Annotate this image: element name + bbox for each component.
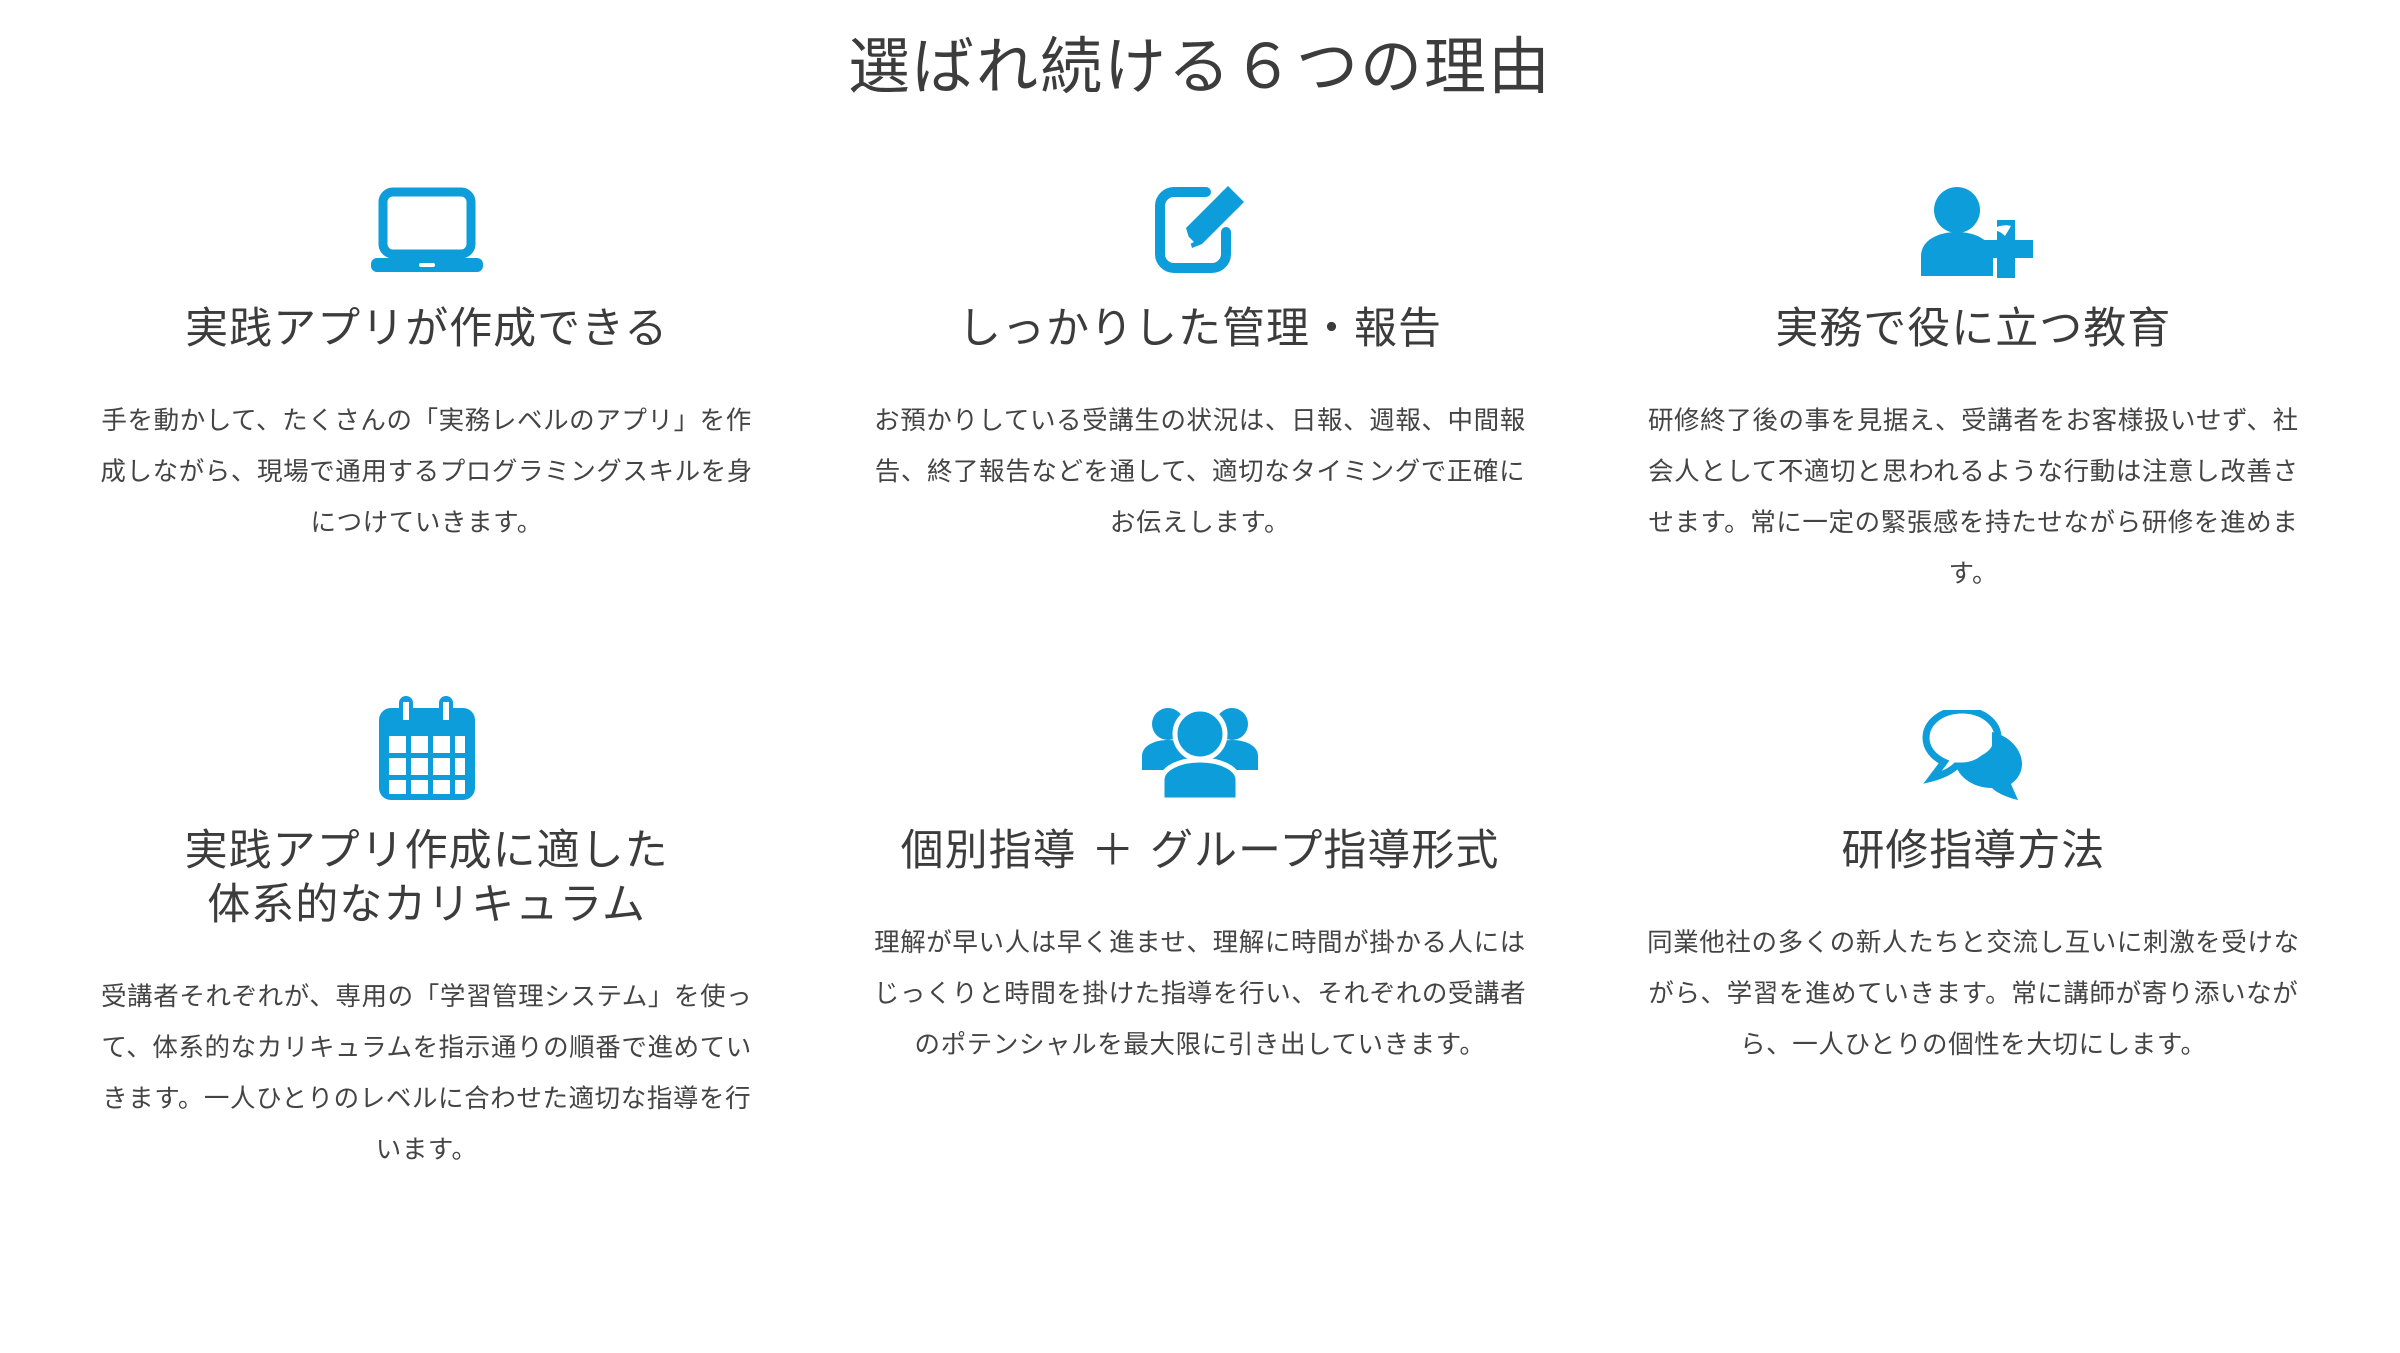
features-section: 選ばれ続ける６つの理由 実践アプリが作成できる 手を動かして、たくさんの「実務レ… [0, 0, 2400, 1353]
features-grid: 実践アプリが作成できる 手を動かして、たくさんの「実務レベルのアプリ」を作成しな… [0, 168, 2400, 1177]
feature-card-title: 実務で役に立つ教育 [1775, 302, 2171, 356]
feature-card-4: 実践アプリ作成に適した 体系的なカリキュラム 受講者それぞれが、専用の「学習管理… [40, 684, 813, 1176]
feature-card-title: 研修指導方法 [1841, 824, 2105, 878]
feature-card-title: 実践アプリ作成に適した 体系的なカリキュラム [185, 824, 669, 932]
feature-card-body: お預かりしている受講生の状況は、日報、週報、中間報告、終了報告などを通して、適切… [865, 396, 1534, 549]
feature-card-body: 手を動かして、たくさんの「実務レベルのアプリ」を作成しながら、現場で通用するプロ… [92, 396, 761, 549]
calendar-icon [375, 684, 479, 802]
feature-card-5: 個別指導 ＋ グループ指導形式 理解が早い人は早く進ませ、理解に時間が掛かる人に… [813, 684, 1586, 1176]
laptop-icon [367, 168, 487, 280]
feature-card-body: 同業他社の多くの新人たちと交流し互いに刺激を受けながら、学習を進めていきます。常… [1639, 918, 2308, 1071]
feature-card-2: しっかりした管理・報告 お預かりしている受講生の状況は、日報、週報、中間報告、終… [813, 168, 1586, 600]
users-group-icon [1138, 684, 1262, 802]
feature-card-3: 実務で役に立つ教育 研修終了後の事を見据え、受講者をお客様扱いせず、社会人として… [1587, 168, 2360, 600]
speech-bubbles-icon [1914, 684, 2032, 802]
feature-card-body: 理解が早い人は早く進ませ、理解に時間が掛かる人にはじっくりと時間を掛けた指導を行… [865, 918, 1534, 1071]
feature-card-6: 研修指導方法 同業他社の多くの新人たちと交流し互いに刺激を受けながら、学習を進め… [1587, 684, 2360, 1176]
feature-card-body: 受講者それぞれが、専用の「学習管理システム」を使って、体系的なカリキュラムを指示… [92, 972, 761, 1176]
feature-card-title: 実践アプリが作成できる [185, 302, 668, 356]
feature-card-title: 個別指導 ＋ グループ指導形式 [901, 824, 1500, 878]
feature-card-body: 研修終了後の事を見据え、受講者をお客様扱いせず、社会人として不適切と思われるよう… [1639, 396, 2308, 600]
edit-square-pencil-icon [1148, 168, 1252, 280]
page-title: 選ばれ続ける６つの理由 [0, 0, 2400, 106]
feature-card-1: 実践アプリが作成できる 手を動かして、たくさんの「実務レベルのアプリ」を作成しな… [40, 168, 813, 600]
user-plus-icon [1913, 168, 2033, 280]
feature-card-title: しっかりした管理・報告 [958, 302, 1442, 356]
